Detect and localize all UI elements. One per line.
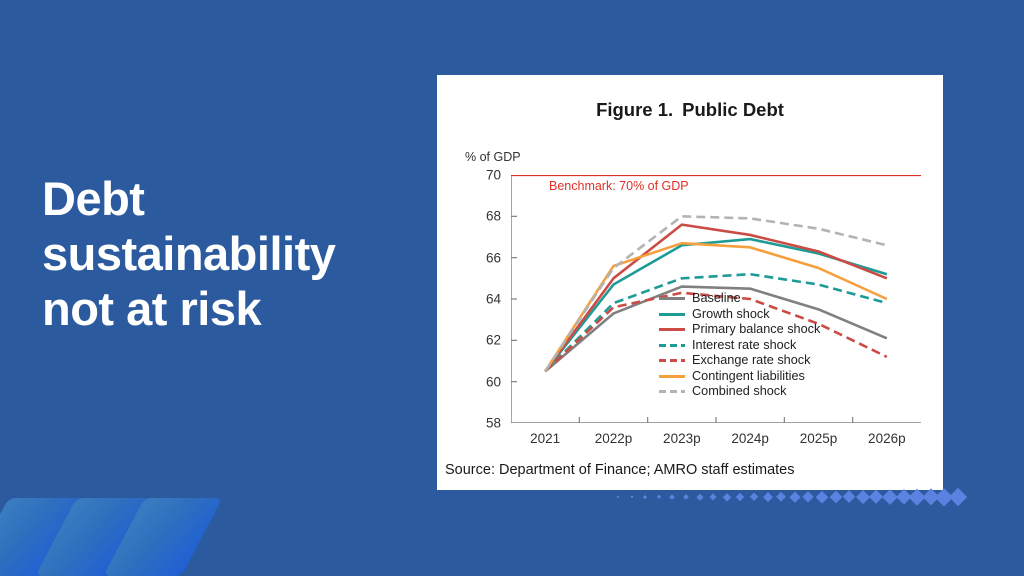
x-axis-tick-labels: 20212022p2023p2024p2025p2026p bbox=[511, 431, 921, 453]
x-tick-label: 2026p bbox=[868, 431, 906, 446]
stripe-decoration bbox=[0, 498, 190, 576]
diamond-shape bbox=[670, 494, 675, 499]
diamond-shape bbox=[829, 491, 842, 504]
legend-swatch-icon bbox=[659, 328, 685, 331]
legend-item[interactable]: Growth shock bbox=[659, 307, 820, 323]
legend-label: Exchange rate shock bbox=[692, 354, 811, 367]
legend-swatch-icon bbox=[659, 297, 685, 300]
x-tick-label: 2024p bbox=[731, 431, 769, 446]
diamond-shape bbox=[842, 490, 855, 503]
legend-swatch-icon bbox=[659, 390, 685, 393]
diamond-shape bbox=[643, 495, 647, 499]
legend-item[interactable]: Interest rate shock bbox=[659, 338, 820, 354]
diamond-shape bbox=[803, 491, 815, 503]
y-tick-label: 64 bbox=[486, 292, 501, 307]
source-note: Source: Department of Finance; AMRO staf… bbox=[445, 462, 795, 478]
legend-label: Combined shock bbox=[692, 385, 787, 398]
diamond-shape bbox=[816, 491, 828, 503]
diamond-decoration bbox=[612, 484, 972, 510]
diamond-shape bbox=[763, 492, 773, 502]
legend-label: Growth shock bbox=[692, 308, 770, 321]
y-axis-unit-label: % of GDP bbox=[465, 150, 521, 164]
x-tick-label: 2021 bbox=[530, 431, 560, 446]
legend-item[interactable]: Baseline bbox=[659, 291, 820, 307]
headline-line-1: Debt bbox=[42, 172, 422, 227]
figure-title: Figure 1.Public Debt bbox=[437, 99, 943, 121]
legend-swatch-icon bbox=[659, 359, 685, 362]
y-axis-tick-labels: 58606264666870 bbox=[467, 175, 507, 423]
y-tick-label: 70 bbox=[486, 168, 501, 183]
diamond-shape bbox=[776, 492, 786, 502]
page-title: Debt sustainability not at risk bbox=[42, 172, 422, 337]
x-tick-label: 2023p bbox=[663, 431, 701, 446]
y-tick-label: 62 bbox=[486, 333, 501, 348]
y-tick-label: 58 bbox=[486, 416, 501, 431]
legend-label: Contingent liabilities bbox=[692, 370, 805, 383]
diamond-shape bbox=[656, 495, 661, 500]
y-tick-label: 66 bbox=[486, 250, 501, 265]
legend-item[interactable]: Primary balance shock bbox=[659, 322, 820, 338]
figure-title-number: Figure 1. bbox=[596, 99, 673, 120]
headline-line-3: not at risk bbox=[42, 282, 422, 337]
legend-item[interactable]: Combined shock bbox=[659, 384, 820, 400]
diamond-shape bbox=[949, 488, 967, 506]
chart-panel: Figure 1.Public Debt % of GDP 5860626466… bbox=[437, 75, 943, 490]
benchmark-annotation: Benchmark: 70% of GDP bbox=[549, 179, 689, 193]
legend-label: Primary balance shock bbox=[692, 323, 820, 336]
diamond-shape bbox=[696, 494, 703, 501]
figure-title-text: Public Debt bbox=[682, 99, 784, 120]
diamond-shape bbox=[710, 493, 717, 500]
legend-label: Interest rate shock bbox=[692, 339, 796, 352]
diamond-shape bbox=[630, 495, 633, 498]
legend-swatch-icon bbox=[659, 375, 685, 378]
headline-line-2: sustainability bbox=[42, 227, 422, 282]
legend-item[interactable]: Exchange rate shock bbox=[659, 353, 820, 369]
diamond-shape bbox=[749, 492, 758, 501]
legend-label: Baseline bbox=[692, 292, 741, 305]
y-tick-label: 68 bbox=[486, 209, 501, 224]
slide-root: Debt sustainability not at risk Figure 1… bbox=[0, 0, 1024, 576]
diamond-shape bbox=[789, 492, 800, 503]
diamond-shape bbox=[723, 493, 731, 501]
legend-swatch-icon bbox=[659, 344, 685, 347]
x-tick-label: 2025p bbox=[800, 431, 838, 446]
x-tick-label: 2022p bbox=[595, 431, 633, 446]
diamond-shape bbox=[683, 494, 689, 500]
legend-swatch-icon bbox=[659, 313, 685, 316]
chart-legend: BaselineGrowth shockPrimary balance shoc… bbox=[659, 291, 820, 400]
y-tick-label: 60 bbox=[486, 374, 501, 389]
diamond-shape bbox=[736, 493, 744, 501]
diamond-shape bbox=[617, 496, 620, 499]
legend-item[interactable]: Contingent liabilities bbox=[659, 369, 820, 385]
